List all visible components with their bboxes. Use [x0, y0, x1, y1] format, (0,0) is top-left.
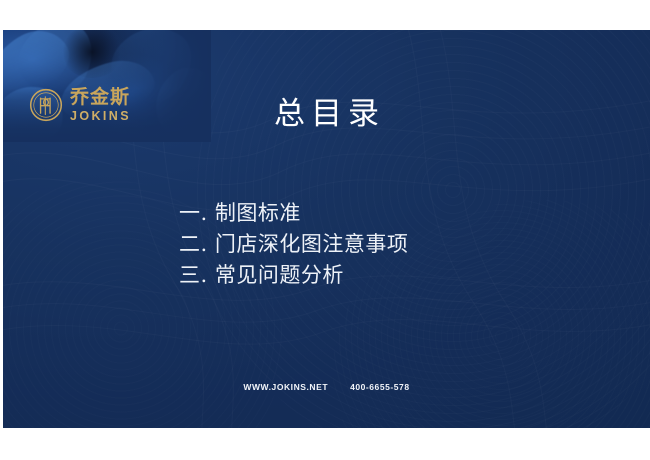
- agenda-list: 一. 制图标准 二. 门店深化图注意事项 三. 常见问题分析: [179, 198, 408, 291]
- agenda-item-2[interactable]: 二. 门店深化图注意事项: [179, 229, 408, 260]
- footer-phone: 400-6655-578: [350, 382, 410, 392]
- agenda-item-3[interactable]: 三. 常见问题分析: [179, 260, 408, 291]
- agenda-item-1[interactable]: 一. 制图标准: [179, 198, 408, 229]
- footer-website[interactable]: WWW.JOKINS.NET: [243, 382, 328, 392]
- page-title: 总目录: [3, 88, 650, 133]
- presentation-slide: 乔金斯 JOKINS 总目录 一. 制图标准 二. 门店深化图注意事项 三. 常…: [3, 30, 650, 428]
- slide-footer: WWW.JOKINS.NET 400-6655-578: [3, 382, 650, 392]
- slide-root: 乔金斯 JOKINS 总目录 一. 制图标准 二. 门店深化图注意事项 三. 常…: [0, 0, 650, 460]
